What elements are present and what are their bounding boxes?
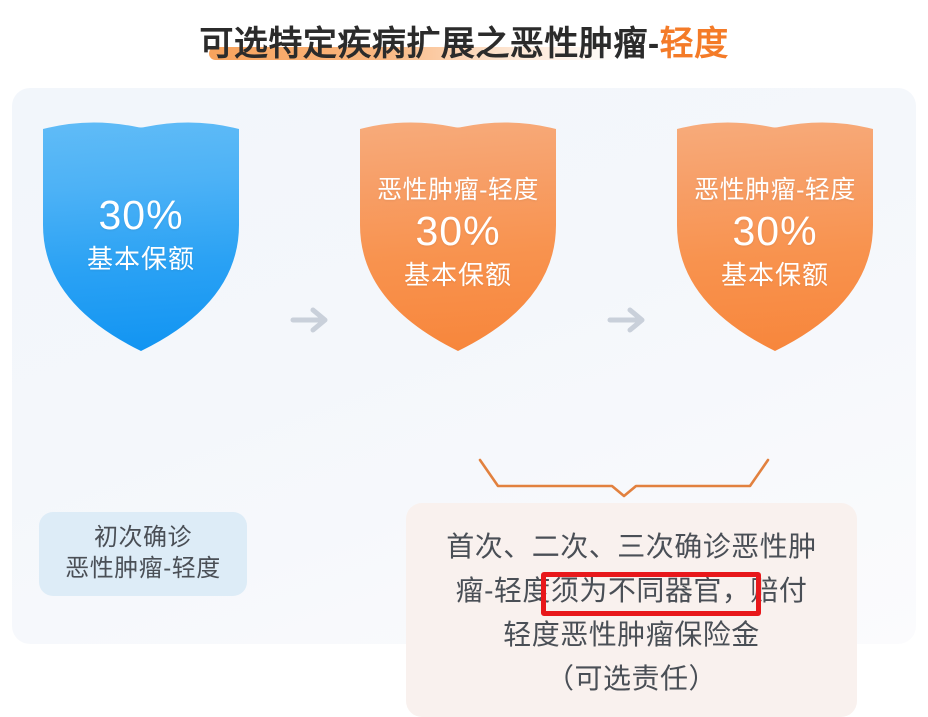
caption-left-line2: 恶性肿瘤-轻度 — [65, 554, 221, 585]
caption-initial-diagnosis: 初次确诊 恶性肿瘤-轻度 — [39, 512, 247, 596]
caption-right-text: 首次、二次、三次确诊恶性肿 瘤-轻度须为不同器官，赔付 轻度恶性肿瘤保险金 （可… — [406, 525, 857, 701]
diagram-panel: 30% 基本保额 恶性肿瘤-轻度 30% 基本保额 恶性肿瘤-轻度 30% 基本… — [12, 88, 916, 644]
caption-right-line3: 轻度恶性肿瘤保险金 — [406, 613, 857, 657]
shield-third-label: 恶性肿瘤-轻度 — [694, 176, 856, 206]
page-title-main: 可选特定疾病扩展之恶性肿瘤- — [199, 25, 659, 63]
caption-right-line2: 瘤-轻度须为不同器官，赔付 — [406, 569, 857, 613]
caption-claim-rules: 首次、二次、三次确诊恶性肿 瘤-轻度须为不同器官，赔付 轻度恶性肿瘤保险金 （可… — [406, 503, 857, 717]
page-title-bar: 可选特定疾病扩展之恶性肿瘤-轻度 — [0, 0, 928, 88]
shield-second: 恶性肿瘤-轻度 30% 基本保额 — [354, 113, 562, 353]
caption-right-line1: 首次、二次、三次确诊恶性肿 — [406, 525, 857, 569]
shield-third-amount: 30% — [732, 207, 817, 255]
arrow-right-icon — [606, 303, 650, 337]
shield-third-basis: 基本保额 — [721, 260, 829, 291]
title-wrapper: 可选特定疾病扩展之恶性肿瘤-轻度 — [193, 24, 734, 64]
page-title: 可选特定疾病扩展之恶性肿瘤-轻度 — [199, 24, 728, 64]
shield-second-basis: 基本保额 — [404, 260, 512, 291]
shield-second-amount: 30% — [415, 207, 500, 255]
arrow-right-icon — [289, 303, 333, 337]
shield-initial-basis: 基本保额 — [87, 244, 195, 275]
caption-left-line1: 初次确诊 — [94, 523, 192, 554]
shield-initial-amount: 30% — [98, 191, 183, 239]
caption-right-line4: （可选责任） — [406, 657, 857, 701]
shield-second-label: 恶性肿瘤-轻度 — [377, 176, 539, 206]
page-title-accent: 轻度 — [660, 25, 729, 63]
shield-initial: 30% 基本保额 — [37, 113, 245, 353]
connector-brace — [472, 456, 776, 498]
shield-third: 恶性肿瘤-轻度 30% 基本保额 — [671, 113, 879, 353]
